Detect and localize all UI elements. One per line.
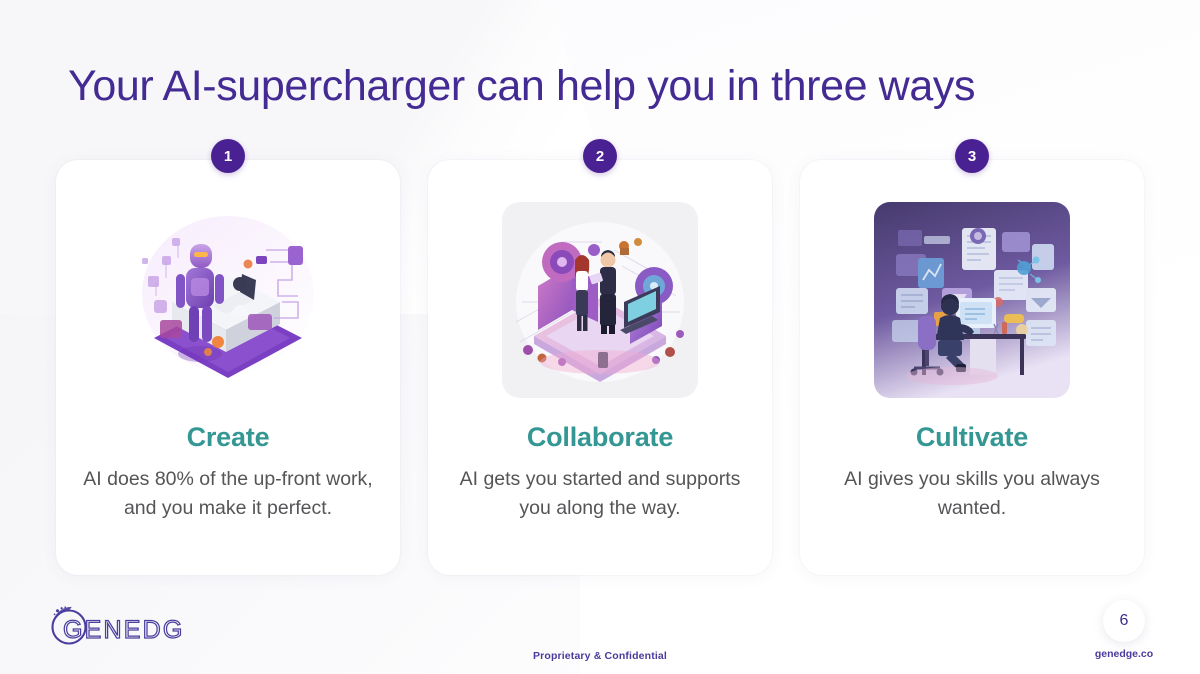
card-badge-1: 1 [211, 139, 245, 173]
card-title-cultivate: Cultivate [800, 422, 1144, 453]
card-description-cultivate: AI gives you skills you always wanted. [814, 465, 1130, 523]
site-url[interactable]: genedge.co [1076, 648, 1172, 660]
confidentiality-notice: Proprietary & Confidential [0, 650, 1200, 662]
slide-canvas: Your AI-supercharger can help you in thr… [0, 0, 1200, 674]
genedge-logo[interactable]: GENEDGE [38, 598, 184, 654]
card-create[interactable]: 1 [56, 160, 400, 575]
card-title-create: Create [56, 422, 400, 453]
card-badge-3: 3 [955, 139, 989, 173]
card-description-collaborate: AI gets you started and supports you alo… [442, 465, 758, 523]
two-people-collaborating-with-machines-illustration [502, 202, 698, 398]
card-title-collaborate: Collaborate [428, 422, 772, 453]
card-collaborate[interactable]: 2 [428, 160, 772, 575]
svg-text:GENEDGE: GENEDGE [63, 616, 184, 644]
card-badge-2: 2 [583, 139, 617, 173]
robot-and-person-at-desk-illustration [130, 202, 326, 398]
cards-row: 1 [0, 160, 1200, 580]
page-indicator: 6 genedge.co [1076, 600, 1172, 660]
page-number: 6 [1103, 600, 1145, 642]
card-description-create: AI does 80% of the up-front work, and yo… [70, 465, 386, 523]
card-cultivate[interactable]: 3 [800, 160, 1144, 575]
page-title: Your AI-supercharger can help you in thr… [68, 62, 1128, 111]
person-at-computer-with-document-panels-illustration [874, 202, 1070, 398]
